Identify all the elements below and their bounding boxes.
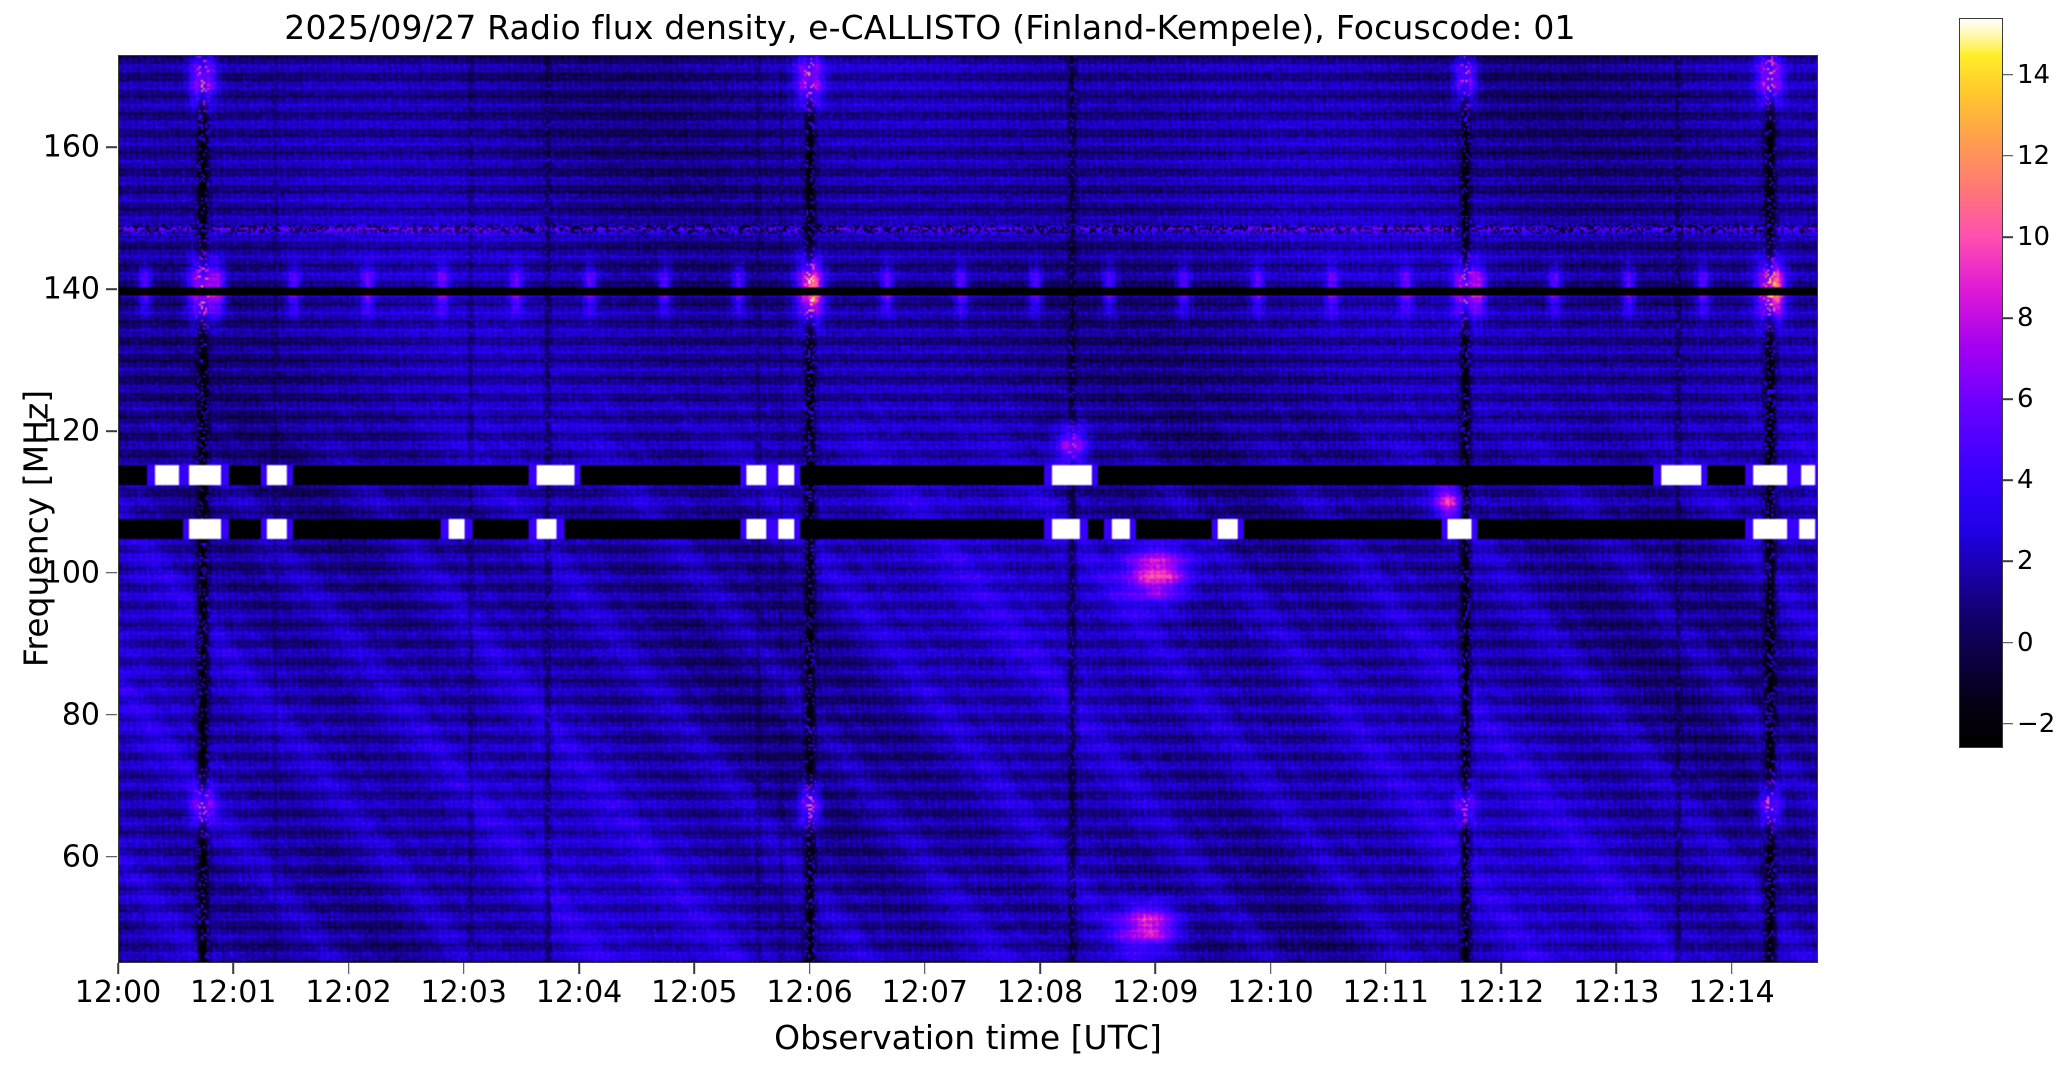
x-tick-label-12-01: 12:01	[190, 975, 276, 1010]
colorbar-tick-label-8: 8	[2017, 303, 2034, 333]
colorbar-tick-label-4: 4	[2017, 465, 2034, 495]
spectrogram-figure: 2025/09/27 Radio flux density, e-CALLIST…	[0, 0, 2066, 1067]
x-tick-mark	[578, 963, 580, 974]
colorbar-tick-label-0: 0	[2017, 628, 2034, 658]
x-tick-label-12-09: 12:09	[1112, 975, 1198, 1010]
colorbar-tick-mark	[2003, 155, 2013, 157]
colorbar-tick-label-10: 10	[2017, 222, 2050, 252]
y-tick-mark	[106, 572, 117, 574]
x-tick-label-12-05: 12:05	[651, 975, 737, 1010]
x-tick-mark	[232, 963, 234, 974]
colorbar-tick-label-2: 2	[2017, 546, 2034, 576]
x-tick-label-12-12: 12:12	[1458, 975, 1544, 1010]
x-tick-label-12-06: 12:06	[766, 975, 852, 1010]
x-axis-label: Observation time [UTC]	[118, 1018, 1818, 1057]
x-tick-label-12-07: 12:07	[882, 975, 968, 1010]
x-tick-mark	[1731, 963, 1733, 974]
x-tick-mark	[924, 963, 926, 974]
colorbar-tick-label-12: 12	[2017, 141, 2050, 171]
colorbar-tick-mark	[2003, 317, 2013, 319]
colorbar-tick-mark	[2003, 561, 2013, 563]
x-tick-mark	[1616, 963, 1618, 974]
y-tick-mark	[106, 146, 117, 148]
colorbar-tick-mark	[2003, 723, 2013, 725]
x-tick-mark	[809, 963, 811, 974]
y-tick-mark	[106, 714, 117, 716]
x-tick-label-12-04: 12:04	[536, 975, 622, 1010]
colorbar-tick-mark	[2003, 480, 2013, 482]
x-tick-label-12-13: 12:13	[1573, 975, 1659, 1010]
page-title: 2025/09/27 Radio flux density, e-CALLIST…	[0, 8, 1860, 47]
x-tick-mark	[1039, 963, 1041, 974]
colorbar-tick-mark	[2003, 74, 2013, 76]
y-axis-label: Frequency [MHz]	[17, 279, 56, 779]
colorbar-tick-mark	[2003, 398, 2013, 400]
x-tick-mark	[1154, 963, 1156, 974]
y-tick-mark	[106, 430, 117, 432]
colorbar-tick-label-14: 14	[2017, 60, 2050, 90]
y-tick-mark	[106, 288, 117, 290]
x-tick-mark	[348, 963, 350, 974]
x-tick-label-12-10: 12:10	[1227, 975, 1313, 1010]
y-tick-label-160: 160	[14, 130, 100, 165]
spectrogram-plot-area[interactable]	[118, 55, 1818, 963]
y-tick-mark	[106, 856, 117, 858]
colorbar-tick-label--2: −2	[2017, 709, 2055, 739]
colorbar-tick-mark	[2003, 236, 2013, 238]
x-tick-mark	[1500, 963, 1502, 974]
x-tick-label-12-14: 12:14	[1688, 975, 1774, 1010]
x-tick-mark	[117, 963, 119, 974]
x-tick-label-12-02: 12:02	[305, 975, 391, 1010]
x-tick-label-12-08: 12:08	[997, 975, 1083, 1010]
colorbar-tick-mark	[2003, 642, 2013, 644]
x-tick-mark	[463, 963, 465, 974]
x-tick-label-12-00: 12:00	[75, 975, 161, 1010]
colorbar-tick-label-6: 6	[2017, 384, 2034, 414]
x-tick-label-12-03: 12:03	[421, 975, 507, 1010]
spectrogram-image	[119, 56, 1817, 962]
x-tick-mark	[693, 963, 695, 974]
x-tick-label-12-11: 12:11	[1343, 975, 1429, 1010]
y-tick-label-60: 60	[14, 839, 100, 874]
colorbar[interactable]	[1959, 18, 2003, 748]
x-tick-mark	[1270, 963, 1272, 974]
x-tick-mark	[1385, 963, 1387, 974]
